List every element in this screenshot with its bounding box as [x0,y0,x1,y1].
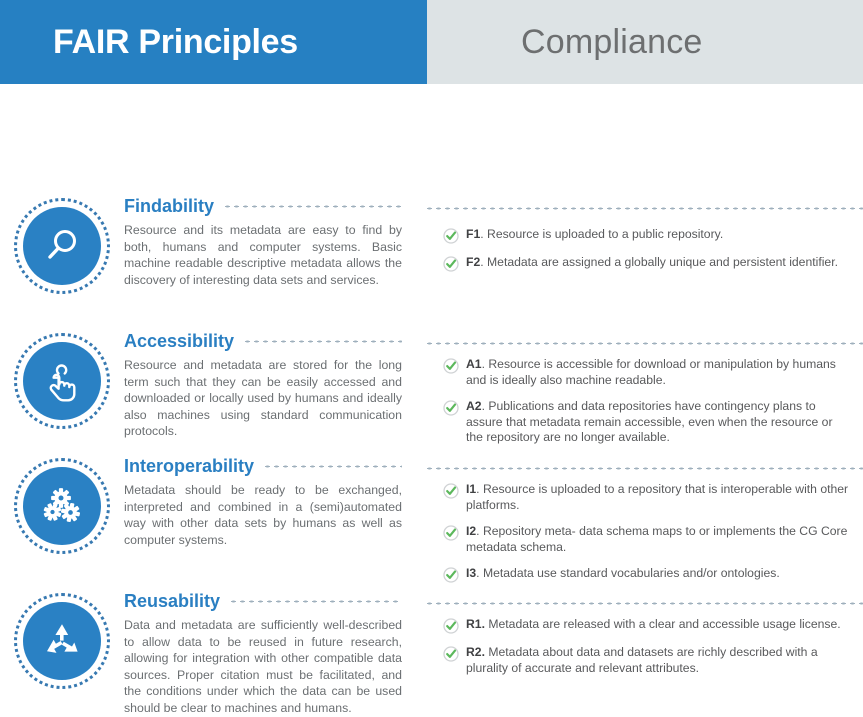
principle-section-findability: Findability Resource and its metadata ar… [0,196,863,288]
compliance-item-text: A1. Resource is accessible for download … [466,357,849,388]
principle-icon-badge [14,458,110,554]
compliance-item-body: Metadata are released with a clear and a… [485,617,841,631]
principle-heading: Findability [124,196,402,217]
header-left-title: FAIR Principles [0,23,298,62]
check-circle-icon [443,567,459,583]
compliance-item-code: R1. [466,617,485,631]
compliance-item-body: Metadata use standard vocabularies and/o… [480,566,780,580]
compliance-item-text: R2. Metadata about data and datasets are… [466,645,849,676]
principle-description-column: Accessibility Resource and metadata are … [0,331,427,457]
compliance-item[interactable]: A2. Publications and data repositories h… [443,399,849,446]
header-bar: FAIR Principles Compliance [0,0,863,84]
check-circle-icon [443,525,459,541]
compliance-list: I1. Resource is uploaded to a repository… [435,456,863,583]
check-circle-icon [443,400,459,416]
compliance-item-text: I3. Metadata use standard vocabularies a… [466,566,780,583]
magnifier-icon [23,207,101,285]
compliance-item[interactable]: I2. Repository meta- data schema maps to… [443,524,849,555]
principle-description-column: Interoperability Metadata should be read… [0,456,427,594]
compliance-item[interactable]: R2. Metadata about data and datasets are… [443,645,849,676]
compliance-item-body: Resource is accessible for download or m… [466,357,836,387]
compliance-item-code: R2. [466,645,485,659]
compliance-list: F1. Resource is uploaded to a public rep… [435,196,863,272]
principle-heading: Reusability [124,591,402,612]
compliance-column: F1. Resource is uploaded to a public rep… [427,196,863,288]
check-circle-icon [443,358,459,374]
check-circle-icon [443,618,459,634]
check-circle-icon [443,483,459,499]
compliance-item-code: F2 [466,255,480,269]
check-circle-icon [443,228,459,244]
check-circle-icon [443,256,459,272]
compliance-item-text: F1. Resource is uploaded to a public rep… [466,227,723,244]
principle-description: Metadata should be ready to be exchanged… [124,482,402,548]
principle-heading-label: Accessibility [124,331,234,352]
principle-section-interoperability: Interoperability Metadata should be read… [0,456,863,594]
compliance-item-code: I1 [466,482,476,496]
heading-dots [243,340,402,343]
principle-heading-label: Findability [124,196,214,217]
compliance-item[interactable]: F1. Resource is uploaded to a public rep… [443,227,849,244]
compliance-item-text: F2. Metadata are assigned a globally uni… [466,255,838,272]
principle-description: Data and metadata are sufficiently well-… [124,617,402,717]
principle-section-accessibility: Accessibility Resource and metadata are … [0,331,863,457]
compliance-item-code: I3 [466,566,476,580]
compliance-item-code: F1 [466,227,480,241]
compliance-column: I1. Resource is uploaded to a repository… [427,456,863,594]
compliance-item-text: R1. Metadata are released with a clear a… [466,617,841,634]
compliance-item[interactable]: I3. Metadata use standard vocabularies a… [443,566,849,583]
compliance-item-code: A1 [466,357,482,371]
compliance-item-text: I2. Repository meta- data schema maps to… [466,524,849,555]
compliance-column: R1. Metadata are released with a clear a… [427,591,863,717]
compliance-item-text: I1. Resource is uploaded to a repository… [466,482,849,513]
principle-description: Resource and its metadata are easy to fi… [124,222,402,288]
header-tab-compliance[interactable]: Compliance [427,0,863,84]
compliance-item[interactable]: A1. Resource is accessible for download … [443,357,849,388]
compliance-item-code: I2 [466,524,476,538]
compliance-list: R1. Metadata are released with a clear a… [435,591,863,676]
compliance-item-body: Resource is uploaded to a repository tha… [466,482,848,512]
compliance-item[interactable]: I1. Resource is uploaded to a repository… [443,482,849,513]
compliance-item-body: Publications and data repositories have … [466,399,833,444]
principle-heading: Accessibility [124,331,402,352]
principle-description-column: Reusability Data and metadata are suffic… [0,591,427,717]
principle-description: Resource and metadata are stored for the… [124,357,402,440]
compliance-item-body: Repository meta- data schema maps to or … [466,524,847,554]
compliance-column: A1. Resource is accessible for download … [427,331,863,457]
heading-dots [229,600,402,603]
header-tab-fair-principles[interactable]: FAIR Principles [0,0,427,84]
principle-icon-badge [14,593,110,689]
principle-heading: Interoperability [124,456,402,477]
principle-icon-badge [14,198,110,294]
compliance-item-text: A2. Publications and data repositories h… [466,399,849,446]
compliance-item[interactable]: F2. Metadata are assigned a globally uni… [443,255,849,272]
header-right-title: Compliance [427,23,703,62]
principle-heading-label: Interoperability [124,456,254,477]
heading-dots [223,205,402,208]
tap-hand-icon [23,342,101,420]
compliance-item-body: Resource is uploaded to a public reposit… [484,227,724,241]
principle-heading-label: Reusability [124,591,220,612]
compliance-item[interactable]: R1. Metadata are released with a clear a… [443,617,849,634]
principle-icon-badge [14,333,110,429]
compliance-item-body: Metadata are assigned a globally unique … [484,255,838,269]
principle-section-reusability: Reusability Data and metadata are suffic… [0,591,863,717]
principle-description-column: Findability Resource and its metadata ar… [0,196,427,288]
recycle-icon [23,602,101,680]
heading-dots [263,465,402,468]
compliance-list: A1. Resource is accessible for download … [435,331,863,446]
gears-icon [23,467,101,545]
compliance-item-code: A2 [466,399,482,413]
